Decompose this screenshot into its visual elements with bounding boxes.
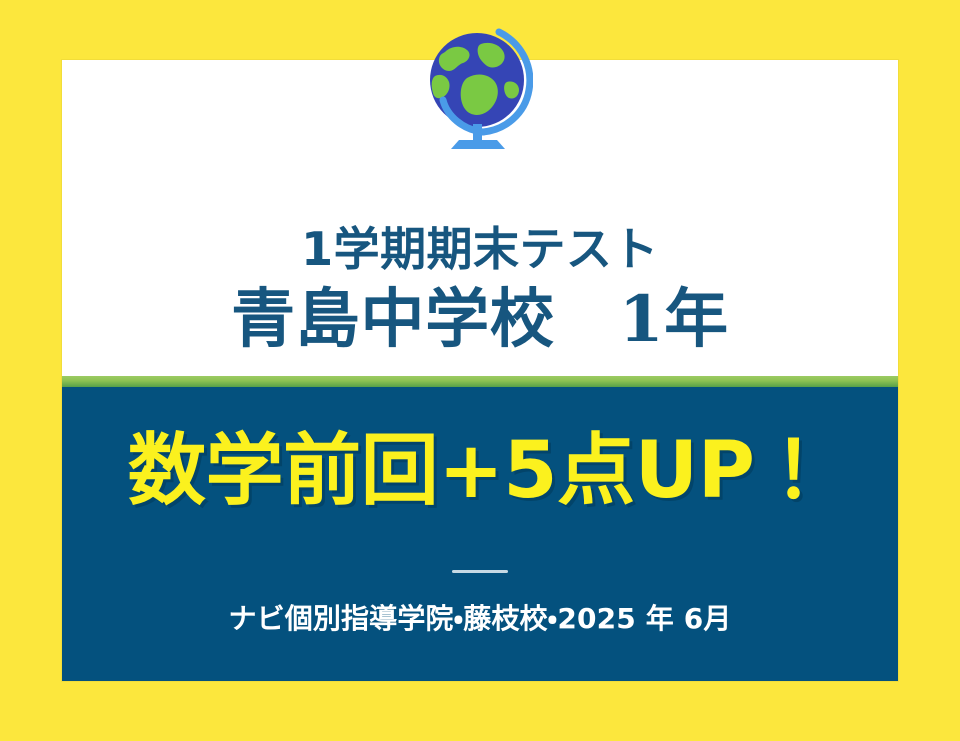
result-card: 1学期期末テスト 青島中学校 1年 数学前回+5点UP！ ナビ個別指導学院・藤枝… xyxy=(62,60,898,681)
school-grade-title: 青島中学校 1年 xyxy=(231,282,729,358)
card-header-panel: 1学期期末テスト 青島中学校 1年 xyxy=(62,60,898,376)
mini-rule-divider xyxy=(452,570,508,573)
globe-icon xyxy=(427,24,533,152)
test-name-title: 1学期期末テスト xyxy=(301,223,659,276)
green-divider xyxy=(62,376,898,387)
poster-canvas: 1学期期末テスト 青島中学校 1年 数学前回+5点UP！ ナビ個別指導学院・藤枝… xyxy=(0,0,960,741)
result-headline: 数学前回+5点UP！ xyxy=(128,387,832,515)
school-credit-footer: ナビ個別指導学院・藤枝校・2025 年 6月 xyxy=(228,601,731,637)
card-body-panel: 数学前回+5点UP！ ナビ個別指導学院・藤枝校・2025 年 6月 xyxy=(62,387,898,681)
